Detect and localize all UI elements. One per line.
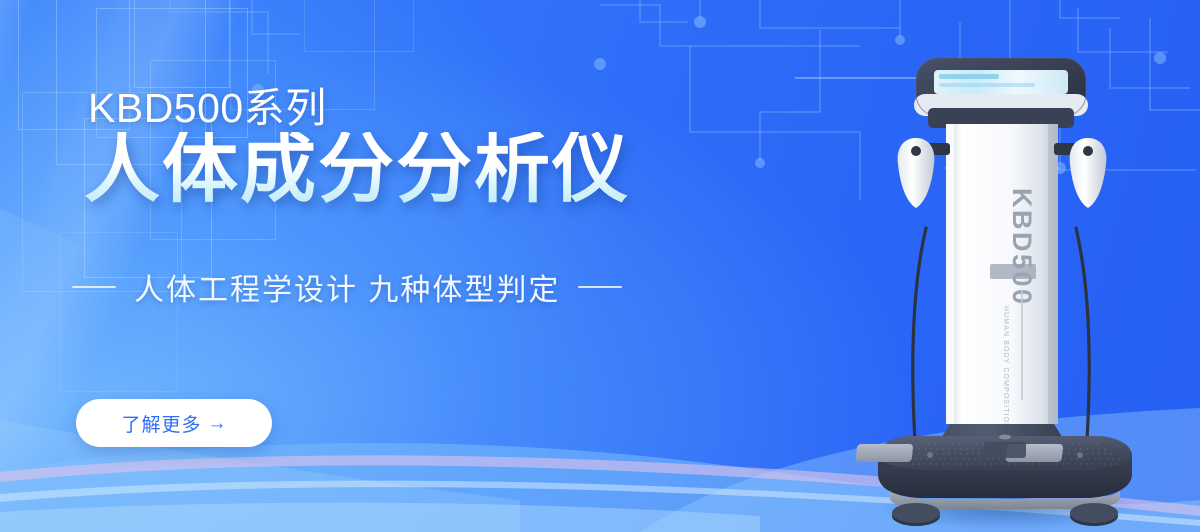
product-series-label: KBD500系列 — [88, 74, 327, 134]
rule-left-icon — [72, 286, 116, 288]
feature-subtitle: 人体工程学设计 九种体型判定 — [72, 265, 622, 309]
page-title: 人体成分分析仪 — [84, 132, 630, 208]
feature-subtitle-text: 人体工程学设计 九种体型判定 — [134, 265, 560, 309]
product-image-kbd500: KBD500 HUMAN BODY COMPOSITION ANALYZER — [838, 38, 1168, 532]
product-banner: KBD500系列 人体成分分析仪 人体工程学设计 九种体型判定 了解更多 → — [0, 0, 1200, 532]
device-handle-right — [1054, 138, 1106, 208]
learn-more-label: 了解更多 — [121, 410, 201, 437]
arrow-right-icon: → — [208, 414, 227, 433]
device-handle-left — [898, 138, 950, 208]
banner-copy: KBD500系列 人体成分分析仪 人体工程学设计 九种体型判定 了解更多 → — [0, 0, 700, 532]
learn-more-button[interactable]: 了解更多 → — [76, 399, 272, 447]
rule-right-icon — [578, 286, 622, 288]
device-brand-text: KBD500 — [1007, 188, 1037, 307]
